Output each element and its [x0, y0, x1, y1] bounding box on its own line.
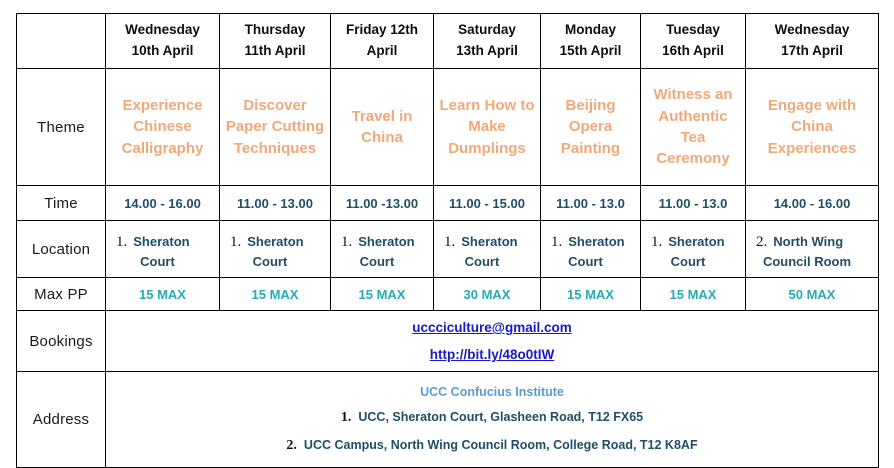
- address-item-text: UCC Campus, North Wing Council Room, Col…: [304, 438, 698, 452]
- day-name: Tuesday: [644, 20, 742, 41]
- day-date: 13th April: [437, 41, 537, 62]
- location-line-1: 1.Sheraton: [544, 230, 637, 254]
- day-date: 16th April: [644, 41, 742, 62]
- location-line-1: 1.Sheraton: [437, 230, 537, 254]
- time-cell-day-7: 14.00 - 16.00: [746, 186, 879, 221]
- theme-cell-day-2: Discover Paper Cutting Techniques: [220, 69, 331, 186]
- column-header-day-5: Monday 15th April: [541, 14, 641, 69]
- address-organisation: UCC Confucius Institute: [109, 380, 875, 404]
- location-name: Sheraton: [133, 234, 189, 249]
- address-cell: UCC Confucius Institute 1.UCC, Sheraton …: [106, 372, 879, 468]
- row-label-theme: Theme: [17, 69, 106, 186]
- location-number: 1.: [444, 234, 455, 250]
- theme-cell-day-1: Experience Chinese Calligraphy: [106, 69, 220, 186]
- location-line-2: Court: [334, 254, 430, 269]
- table-row-location: Location 1.Sheraton Court 1.Sheraton Cou…: [17, 221, 879, 278]
- max-pp-cell-day-5: 15 MAX: [541, 278, 641, 311]
- bookings-url-link[interactable]: http://bit.ly/48o0tIW: [109, 341, 875, 368]
- day-date: April: [334, 41, 430, 62]
- time-cell-day-6: 11.00 - 13.0: [641, 186, 746, 221]
- max-pp-cell-day-6: 15 MAX: [641, 278, 746, 311]
- address-item-number: 1.: [341, 410, 352, 425]
- location-line-1: 1.Sheraton: [109, 230, 216, 254]
- address-item-text: UCC, Sheraton Court, Glasheen Road, T12 …: [358, 410, 643, 424]
- location-line-1: 1.Sheraton: [644, 230, 742, 254]
- address-item-number: 2.: [286, 438, 297, 453]
- time-cell-day-4: 11.00 - 15.00: [434, 186, 541, 221]
- location-number: 2.: [756, 234, 767, 250]
- day-name: Monday: [544, 20, 637, 41]
- location-name: Sheraton: [568, 234, 624, 249]
- theme-cell-day-4: Learn How to Make Dumplings: [434, 69, 541, 186]
- location-cell-day-7: 2.North Wing Council Room: [746, 221, 879, 278]
- table-row-address: Address UCC Confucius Institute 1.UCC, S…: [17, 372, 879, 468]
- column-header-day-1: Wednesday 10th April: [106, 14, 220, 69]
- location-line-1: 1.Sheraton: [334, 230, 430, 254]
- location-line-2: Court: [644, 254, 742, 269]
- location-line-2: Court: [544, 254, 637, 269]
- location-number: 1.: [341, 234, 352, 250]
- location-line-2: Court: [223, 254, 327, 269]
- max-pp-cell-day-1: 15 MAX: [106, 278, 220, 311]
- time-cell-day-3: 11.00 -13.00: [331, 186, 434, 221]
- day-date: 10th April: [109, 41, 216, 62]
- location-cell-day-3: 1.Sheraton Court: [331, 221, 434, 278]
- day-date: 17th April: [749, 41, 875, 62]
- schedule-sheet: Wednesday 10th April Thursday 11th April…: [0, 0, 894, 460]
- address-item-2: 2.UCC Campus, North Wing Council Room, C…: [109, 432, 875, 459]
- theme-cell-day-7: Engage with China Experiences: [746, 69, 879, 186]
- row-label-max-pp: Max PP: [17, 278, 106, 311]
- location-line-2: Council Room: [749, 254, 875, 269]
- location-line-1: 2.North Wing: [749, 230, 875, 254]
- events-schedule-table: Wednesday 10th April Thursday 11th April…: [16, 13, 879, 468]
- location-cell-day-6: 1.Sheraton Court: [641, 221, 746, 278]
- theme-cell-day-5: Beijing Opera Painting: [541, 69, 641, 186]
- location-number: 1.: [651, 234, 662, 250]
- location-cell-day-5: 1.Sheraton Court: [541, 221, 641, 278]
- table-header-row: Wednesday 10th April Thursday 11th April…: [17, 14, 879, 69]
- table-row-max-pp: Max PP 15 MAX 15 MAX 15 MAX 30 MAX 15 MA…: [17, 278, 879, 311]
- theme-cell-day-3: Travel in China: [331, 69, 434, 186]
- table-row-bookings: Bookings uccciculture@gmail.com http://b…: [17, 311, 879, 372]
- row-label-address: Address: [17, 372, 106, 468]
- location-name: Sheraton: [461, 234, 517, 249]
- location-cell-day-1: 1.Sheraton Court: [106, 221, 220, 278]
- location-line-2: Court: [109, 254, 216, 269]
- time-cell-day-2: 11.00 - 13.00: [220, 186, 331, 221]
- day-date: 15th April: [544, 41, 637, 62]
- day-date: 11th April: [223, 41, 327, 62]
- theme-cell-day-6: Witness an Authentic Tea Ceremony: [641, 69, 746, 186]
- location-cell-day-4: 1.Sheraton Court: [434, 221, 541, 278]
- location-number: 1.: [230, 234, 241, 250]
- column-header-day-7: Wednesday 17th April: [746, 14, 879, 69]
- day-name: Friday 12th: [334, 20, 430, 41]
- row-label-location: Location: [17, 221, 106, 278]
- location-line-2: Court: [437, 254, 537, 269]
- location-name: Sheraton: [247, 234, 303, 249]
- table-row-time: Time 14.00 - 16.00 11.00 - 13.00 11.00 -…: [17, 186, 879, 221]
- row-label-time: Time: [17, 186, 106, 221]
- column-header-day-6: Tuesday 16th April: [641, 14, 746, 69]
- location-number: 1.: [551, 234, 562, 250]
- day-name: Wednesday: [109, 20, 216, 41]
- column-header-day-3: Friday 12th April: [331, 14, 434, 69]
- bookings-cell: uccciculture@gmail.com http://bit.ly/48o…: [106, 311, 879, 372]
- location-number: 1.: [116, 234, 127, 250]
- row-label-bookings: Bookings: [17, 311, 106, 372]
- location-name: North Wing: [773, 234, 843, 249]
- column-header-day-4: Saturday 13th April: [434, 14, 541, 69]
- location-line-1: 1.Sheraton: [223, 230, 327, 254]
- max-pp-cell-day-3: 15 MAX: [331, 278, 434, 311]
- max-pp-cell-day-2: 15 MAX: [220, 278, 331, 311]
- time-cell-day-1: 14.00 - 16.00: [106, 186, 220, 221]
- location-name: Sheraton: [358, 234, 414, 249]
- corner-cell: [17, 14, 106, 69]
- day-name: Saturday: [437, 20, 537, 41]
- table-row-theme: Theme Experience Chinese Calligraphy Dis…: [17, 69, 879, 186]
- max-pp-cell-day-7: 50 MAX: [746, 278, 879, 311]
- bookings-email-link[interactable]: uccciculture@gmail.com: [109, 314, 875, 341]
- column-header-day-2: Thursday 11th April: [220, 14, 331, 69]
- location-cell-day-2: 1.Sheraton Court: [220, 221, 331, 278]
- location-name: Sheraton: [668, 234, 724, 249]
- time-cell-day-5: 11.00 - 13.0: [541, 186, 641, 221]
- day-name: Wednesday: [749, 20, 875, 41]
- day-name: Thursday: [223, 20, 327, 41]
- address-item-1: 1.UCC, Sheraton Court, Glasheen Road, T1…: [109, 404, 875, 431]
- max-pp-cell-day-4: 30 MAX: [434, 278, 541, 311]
